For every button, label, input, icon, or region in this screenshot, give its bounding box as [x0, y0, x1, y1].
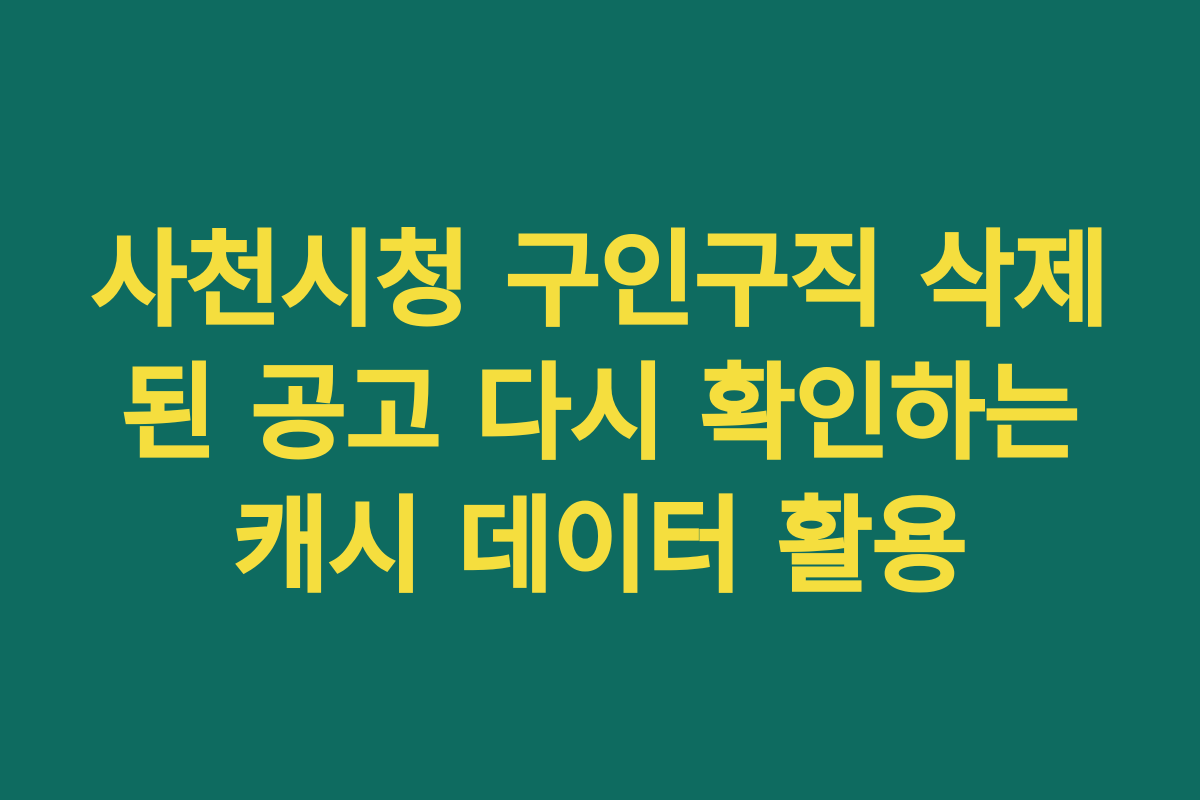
headline-line-1: 사천시청 구인구직 삭제 [40, 214, 1160, 347]
headline-line-3: 캐시 데이터 활용 [40, 480, 1160, 613]
headline-line-2: 된 공고 다시 확인하는 [40, 347, 1160, 480]
title-card: 사천시청 구인구직 삭제 된 공고 다시 확인하는 캐시 데이터 활용 [0, 0, 1200, 800]
headline-block: 사천시청 구인구직 삭제 된 공고 다시 확인하는 캐시 데이터 활용 [0, 214, 1200, 613]
